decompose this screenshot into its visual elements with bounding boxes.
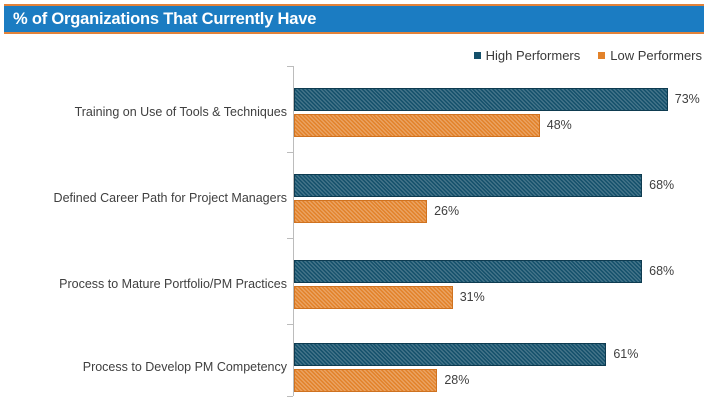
chart-header-band: % of Organizations That Currently Have — [4, 4, 704, 34]
bar-value-label: 26% — [427, 200, 459, 223]
bar-value-label: 28% — [437, 369, 469, 392]
legend-swatch-icon — [474, 52, 481, 59]
legend-label: Low Performers — [610, 48, 702, 63]
axis-tick — [287, 238, 293, 239]
bar[interactable] — [294, 114, 540, 137]
axis-tick — [287, 66, 293, 67]
axis-tick — [287, 324, 293, 325]
page-title: % of Organizations That Currently Have — [4, 10, 316, 29]
chart-legend: High Performers Low Performers — [474, 48, 702, 63]
legend-item-low-performers[interactable]: Low Performers — [598, 48, 702, 63]
category-label: Training on Use of Tools & Techniques — [7, 105, 287, 119]
bar-value-label: 73% — [668, 88, 700, 111]
bar-value-label: 61% — [606, 343, 638, 366]
legend-item-high-performers[interactable]: High Performers — [474, 48, 581, 63]
bar[interactable] — [294, 369, 437, 392]
bar-value-label: 68% — [642, 174, 674, 197]
legend-swatch-icon — [598, 52, 605, 59]
bar-value-label: 68% — [642, 260, 674, 283]
category-label: Process to Mature Portfolio/PM Practices — [7, 277, 287, 291]
axis-tick — [287, 152, 293, 153]
chart-plot-area: Training on Use of Tools & Techniques73%… — [0, 66, 708, 396]
legend-label: High Performers — [486, 48, 581, 63]
axis-tick — [287, 396, 293, 397]
bar-value-label: 48% — [540, 114, 572, 137]
bar[interactable] — [294, 174, 642, 197]
bar[interactable] — [294, 286, 453, 309]
bar[interactable] — [294, 200, 427, 223]
category-label: Defined Career Path for Project Managers — [7, 191, 287, 205]
bar[interactable] — [294, 343, 606, 366]
category-label: Process to Develop PM Competency — [7, 360, 287, 374]
bar[interactable] — [294, 260, 642, 283]
bar-value-label: 31% — [453, 286, 485, 309]
bar[interactable] — [294, 88, 668, 111]
